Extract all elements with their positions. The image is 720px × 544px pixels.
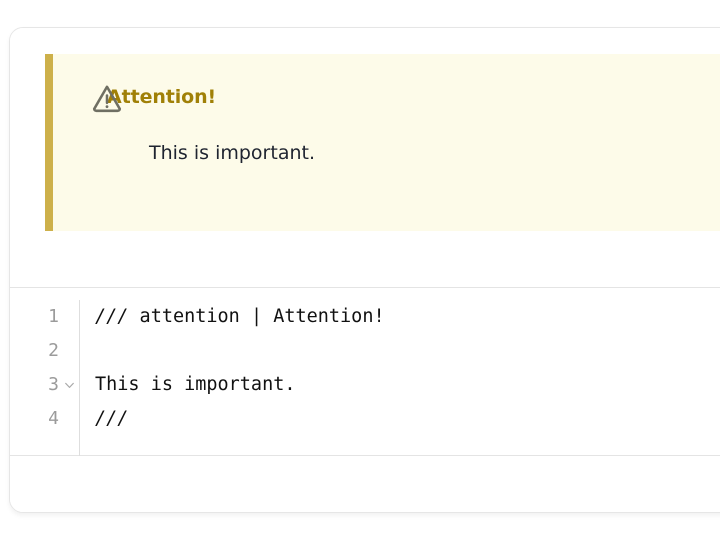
code-token-fence: /// (95, 408, 128, 429)
line-number[interactable]: 2 (10, 334, 79, 368)
admonition-text: This is important. (149, 142, 720, 166)
card-footer-strip (10, 456, 720, 512)
markdown-preview-pane: Attention! This is important. (10, 28, 720, 288)
admonition-title: Attention! (107, 88, 720, 107)
code-line[interactable]: This is important. (95, 368, 720, 402)
code-editor-pane[interactable]: 1234 /// attention | Attention!This is i… (10, 288, 720, 456)
line-number[interactable]: 4 (10, 402, 79, 436)
code-token-fence: /// (95, 306, 128, 327)
chevron-down-icon[interactable] (63, 379, 76, 392)
code-text-area[interactable]: /// attention | Attention!This is import… (80, 300, 720, 456)
warning-triangle-icon (91, 83, 123, 113)
admonition-accent-bar (45, 54, 53, 231)
editor-grid: 1234 /// attention | Attention!This is i… (10, 300, 720, 456)
code-token-text: attention | Attention! (128, 306, 384, 327)
code-line[interactable] (95, 334, 720, 368)
admonition-body: Attention! This is important. (53, 54, 720, 231)
preview-editor-card: Attention! This is important. 1234 /// a… (9, 27, 720, 513)
admonition-attention: Attention! This is important. (45, 54, 720, 231)
code-token-text: This is important. (95, 374, 295, 395)
code-line[interactable]: /// (95, 402, 720, 436)
code-line[interactable]: /// attention | Attention! (95, 300, 720, 334)
line-number-gutter[interactable]: 1234 (10, 300, 80, 456)
app-root: Attention! This is important. 1234 /// a… (0, 0, 720, 544)
line-number[interactable]: 1 (10, 300, 79, 334)
line-number[interactable]: 3 (10, 368, 79, 402)
